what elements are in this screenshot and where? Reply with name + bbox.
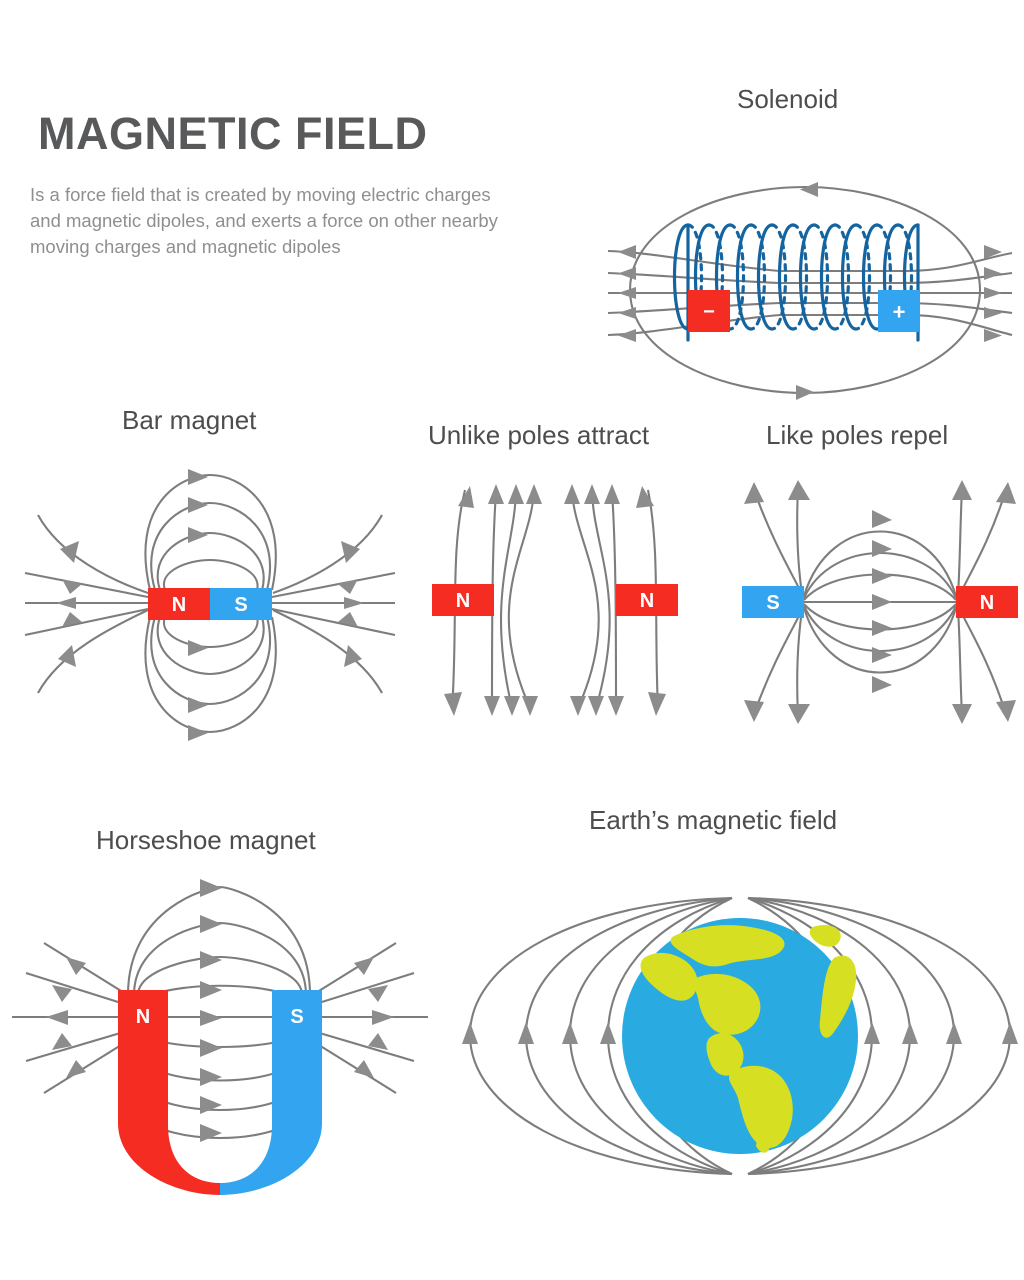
- horseshoe-diagram: N S: [10, 865, 430, 1205]
- like-poles-right-label: N: [980, 592, 994, 614]
- earth-diagram: [460, 840, 1020, 1270]
- solenoid-diagram: − +: [600, 125, 1020, 425]
- bar-magnet-south-label: S: [234, 594, 247, 616]
- bar-magnet-title: Bar magnet: [122, 405, 256, 436]
- unlike-poles-left-label: N: [456, 590, 470, 612]
- like-poles-magnet-right[interactable]: N: [956, 586, 1018, 618]
- like-poles-magnet-left[interactable]: S: [742, 586, 804, 618]
- horseshoe-field-lines: [12, 879, 428, 1142]
- earth-globe: [622, 918, 858, 1154]
- page-description: Is a force field that is created by movi…: [30, 182, 500, 260]
- horseshoe-north-label: N: [136, 1006, 150, 1028]
- horseshoe-south-label: S: [290, 1006, 303, 1028]
- negative-terminal-label: −: [703, 301, 715, 323]
- page-title: MAGNETIC FIELD: [38, 108, 427, 160]
- positive-terminal[interactable]: +: [878, 290, 920, 332]
- bar-magnet-diagram: N S: [10, 445, 410, 745]
- positive-terminal-label: +: [893, 300, 906, 325]
- unlike-poles-magnet-right[interactable]: N: [616, 584, 678, 616]
- like-poles-left-label: S: [766, 592, 779, 614]
- infographic-page: MAGNETIC FIELD Is a force field that is …: [0, 0, 1024, 1280]
- unlike-poles-right-label: N: [640, 590, 654, 612]
- bar-magnet-body[interactable]: N S: [148, 588, 272, 620]
- like-poles-diagram: S N: [740, 470, 1024, 730]
- solenoid-title: Solenoid: [737, 84, 838, 115]
- unlike-poles-title: Unlike poles attract: [428, 420, 649, 451]
- negative-terminal[interactable]: −: [688, 290, 730, 332]
- unlike-poles-magnet-left[interactable]: N: [432, 584, 494, 616]
- unlike-poles-diagram: N N: [430, 470, 720, 730]
- like-poles-title: Like poles repel: [766, 420, 948, 451]
- horseshoe-magnet-body[interactable]: N S: [118, 990, 322, 1195]
- bar-magnet-north-label: N: [172, 594, 186, 616]
- horseshoe-title: Horseshoe magnet: [96, 825, 316, 856]
- earth-title: Earth’s magnetic field: [589, 805, 837, 836]
